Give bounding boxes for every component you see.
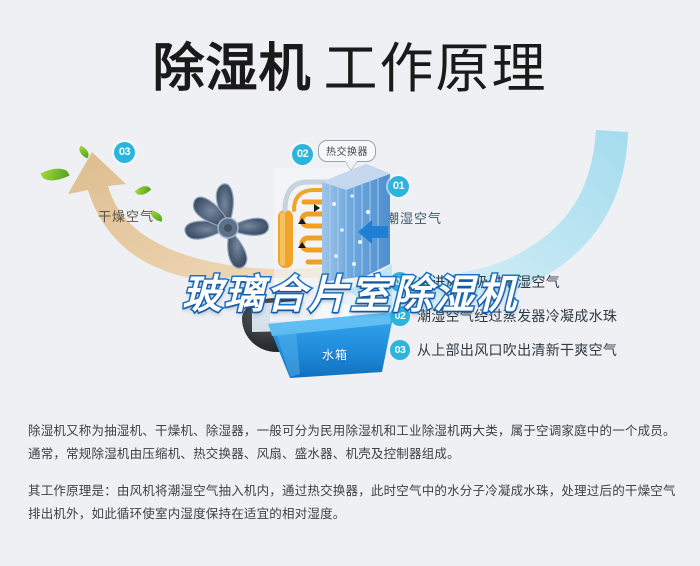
diagram-badge-01: 01 [388,176,409,197]
fan-icon [178,180,278,275]
list-item: 03 从上部出风口吹出清新干爽空气 [390,333,690,367]
step-number: 03 [390,340,410,360]
body-paragraph-1: 除湿机又称为抽湿机、干燥机、除湿器，一般可分为民用除湿机和工业除湿机两大类，属于… [28,420,676,466]
water-tank-label: 水箱 [322,346,348,363]
diagram-badge-02: 02 [292,144,313,165]
page-title: 除湿机工作原理 [0,24,700,103]
page-title-part1: 除湿机 [152,39,311,99]
page-title-part2: 工作原理 [324,39,548,99]
watermark-text: 玻璃合片室除湿机 [0,262,700,320]
diagram-badge-03: 03 [114,142,135,163]
body-paragraph-2: 其工作原理是：由风机将潮湿空气抽入机内，通过热交换器，此时空气中的水分子冷凝成水… [28,480,676,526]
step-label: 从上部出风口吹出清新干爽空气 [417,340,617,360]
dry-air-label: 干燥空气 [98,206,154,225]
heat-exchanger-callout: 热交换器 [318,140,376,162]
